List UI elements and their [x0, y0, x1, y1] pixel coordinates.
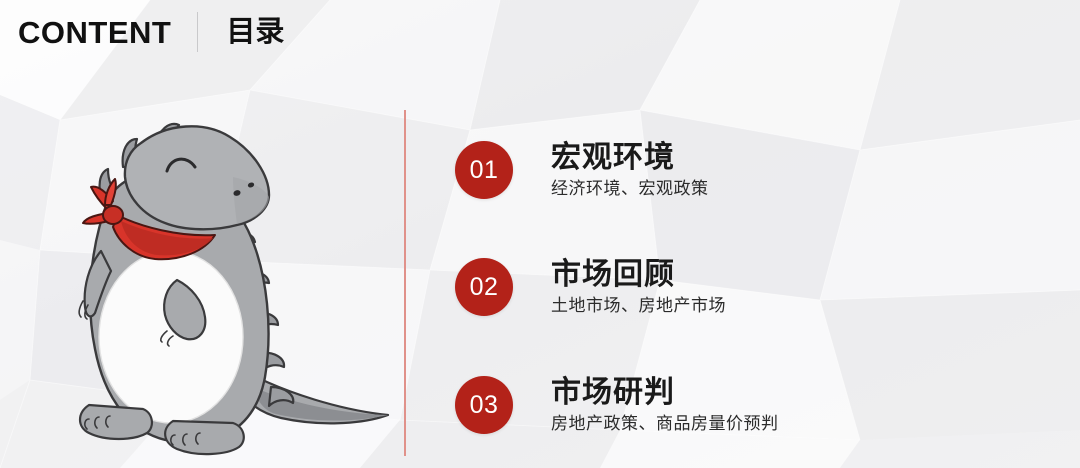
agenda-subtitle-2: 土地市场、房地产市场 — [551, 297, 726, 316]
agenda-title-3: 市场研判 — [551, 376, 779, 410]
agenda-text-1: 宏观环境 经济环境、宏观政策 — [551, 141, 709, 198]
vertical-divider-line — [404, 110, 406, 456]
header-divider — [197, 12, 198, 52]
agenda-item-1[interactable]: 01 宏观环境 经济环境、宏观政策 — [455, 135, 709, 205]
agenda-subtitle-3: 房地产政策、商品房量价预判 — [551, 415, 779, 434]
agenda-text-2: 市场回顾 土地市场、房地产市场 — [551, 258, 726, 315]
agenda-number-badge-1: 01 — [455, 141, 513, 199]
agenda-number-badge-2: 02 — [455, 258, 513, 316]
presentation-slide: CONTENT 目录 — [0, 0, 1080, 468]
header-title-cn: 目录 — [226, 18, 284, 47]
slide-header: CONTENT 目录 — [18, 8, 284, 56]
agenda-number-badge-3: 03 — [455, 376, 513, 434]
agenda-title-1: 宏观环境 — [551, 141, 709, 175]
agenda-title-2: 市场回顾 — [551, 258, 726, 292]
header-title-en: CONTENT — [18, 17, 171, 48]
dinosaur-mascot-illustration — [55, 105, 400, 460]
agenda-subtitle-1: 经济环境、宏观政策 — [551, 180, 709, 199]
agenda-text-3: 市场研判 房地产政策、商品房量价预判 — [551, 376, 779, 433]
agenda-item-3[interactable]: 03 市场研判 房地产政策、商品房量价预判 — [455, 370, 779, 440]
agenda-item-2[interactable]: 02 市场回顾 土地市场、房地产市场 — [455, 252, 726, 322]
